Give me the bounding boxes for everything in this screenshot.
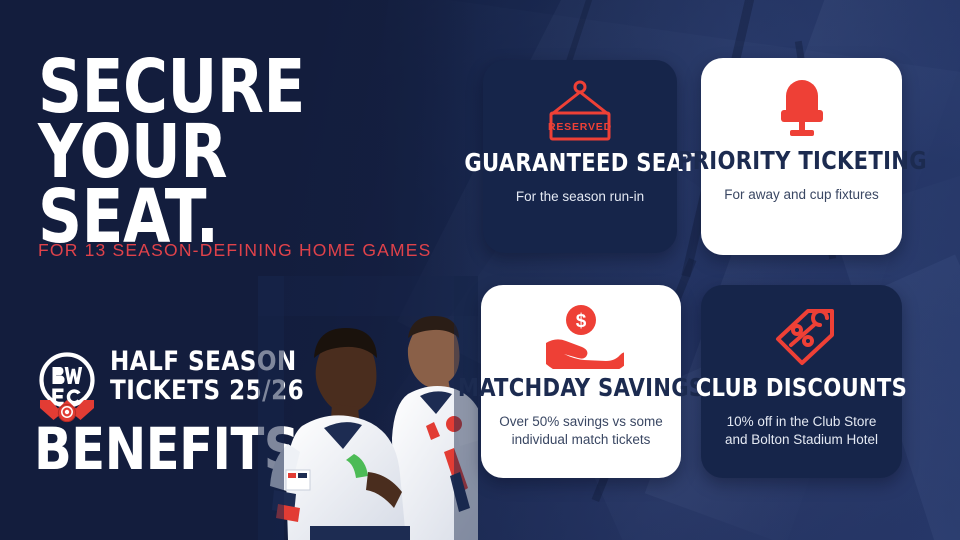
bolton-wanderers-crest-icon <box>36 350 98 424</box>
benefit-card-matchday-savings[interactable]: $ MATCHDAY SAVINGS Over 50% savings vs s… <box>481 285 681 478</box>
card-description: Over 50% savings vs some individual matc… <box>481 413 681 449</box>
hand-holding-coin-icon: $ <box>538 303 624 369</box>
card-description: For the season run-in <box>502 188 658 206</box>
card-title: GUARANTEED SEAT <box>464 150 696 175</box>
headline: SECURE YOUR SEAT. <box>38 55 406 250</box>
card-title: CLUB DISCOUNTS <box>696 375 907 400</box>
card-title: PRIORITY TICKETING <box>677 148 927 173</box>
svg-text:$: $ <box>576 311 587 332</box>
card-description: 10% off in the Club Store and Bolton Sta… <box>701 413 902 449</box>
headline-line-2: YOUR SEAT. <box>38 120 406 250</box>
players-photo <box>258 276 478 540</box>
benefit-card-club-discounts[interactable]: CLUB DISCOUNTS 10% off in the Club Store… <box>701 285 902 478</box>
siren-beacon-icon <box>762 76 842 142</box>
subheadline: FOR 13 SEASON-DEFINING HOME GAMES <box>38 240 432 261</box>
reserved-sign-label: RESERVED <box>548 121 612 133</box>
promo-graphic: SECURE YOUR SEAT. FOR 13 SEASON-DEFINING… <box>0 0 960 540</box>
reserved-sign-icon: RESERVED <box>532 78 628 144</box>
benefit-card-guaranteed-seat[interactable]: RESERVED GUARANTEED SEAT For the season … <box>483 60 677 253</box>
percent-price-tag-icon <box>764 303 840 369</box>
card-description: For away and cup fixtures <box>710 186 893 204</box>
card-title: MATCHDAY SAVINGS <box>458 375 705 400</box>
benefit-card-priority-ticketing[interactable]: PRIORITY TICKETING For away and cup fixt… <box>701 58 902 255</box>
